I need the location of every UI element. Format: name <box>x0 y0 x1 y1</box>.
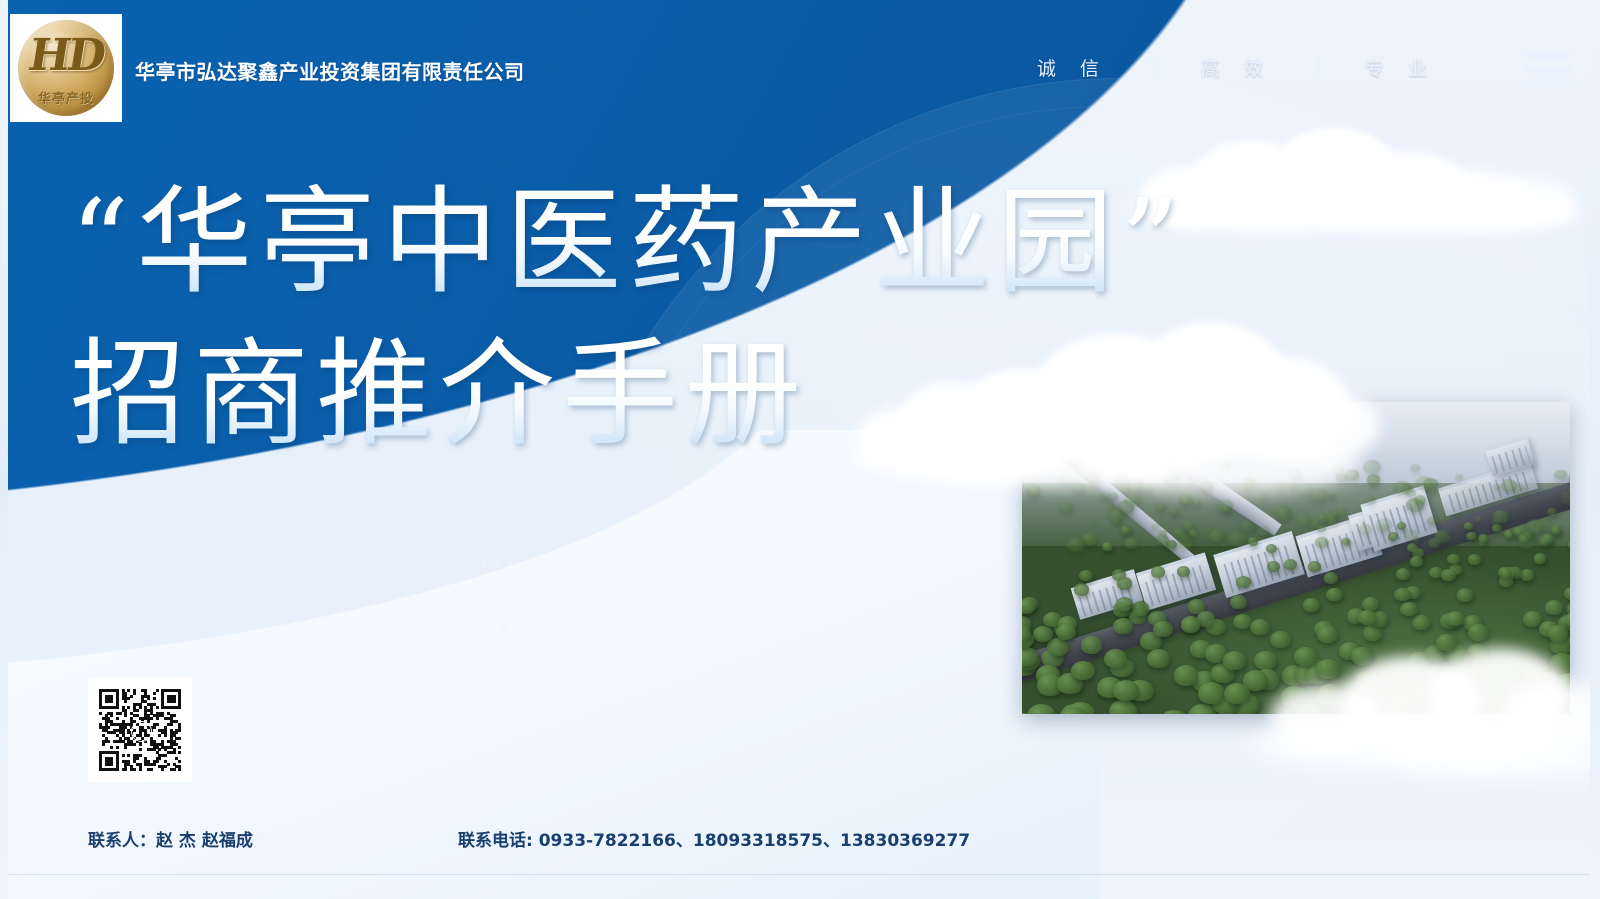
qr-module <box>158 757 161 760</box>
rendering-tree <box>1396 568 1410 580</box>
rendering-tree <box>1317 626 1337 643</box>
rendering-tree <box>1056 624 1076 641</box>
rendering-tree <box>1324 572 1338 584</box>
qr-module <box>116 768 119 771</box>
rendering-tree-distant <box>1275 506 1293 520</box>
rendering-tree <box>1104 649 1127 668</box>
rendering-tree-distant <box>1526 519 1544 533</box>
rendering-tree-distant <box>1026 484 1041 496</box>
rendering-tree-distant <box>1554 470 1566 480</box>
rendering-tree <box>1316 659 1340 679</box>
qr-module <box>127 689 130 692</box>
rendering-tree-distant <box>1108 492 1118 500</box>
qr-module <box>164 734 167 737</box>
qr-code[interactable] <box>88 678 192 782</box>
qr-module <box>167 763 170 766</box>
rendering-tree <box>1545 600 1563 614</box>
rendering-tree <box>1294 647 1317 666</box>
rendering-tree <box>1033 626 1053 643</box>
rendering-tree-distant <box>1455 474 1463 480</box>
qr-module <box>158 734 161 737</box>
rendering-tree-distant <box>1331 464 1344 475</box>
rendering-tree-distant <box>1416 476 1433 489</box>
rendering-tree-distant <box>1560 491 1570 504</box>
contact-person: 联系人：赵 杰 赵福成 <box>88 826 253 851</box>
rendering-tree-distant <box>1296 514 1311 526</box>
header-nav: 诚 信 高 效 专 业 <box>991 54 1482 81</box>
hamburger-bar <box>1524 66 1572 73</box>
rendering-tree-distant <box>1428 538 1441 548</box>
rendering-tree <box>1174 665 1199 685</box>
rendering-tree-distant <box>1363 460 1380 474</box>
rendering-tree <box>1113 618 1133 634</box>
qr-module <box>127 697 130 700</box>
hamburger-bar <box>1524 79 1572 86</box>
rendering-tree <box>1388 532 1398 540</box>
qr-module <box>107 726 110 729</box>
qr-module <box>164 754 167 757</box>
rendering-tree <box>1177 566 1191 577</box>
qr-module <box>158 748 161 751</box>
rendering-tree <box>1284 559 1297 570</box>
rendering-tree-distant <box>1475 516 1482 522</box>
industrial-park-rendering <box>1022 402 1570 714</box>
qr-module <box>153 726 156 729</box>
rendering-tree-distant <box>1183 521 1196 531</box>
qr-module <box>156 706 159 709</box>
rendering-tree <box>1550 653 1570 672</box>
rendering-tree <box>1317 684 1344 706</box>
qr-module <box>156 717 159 720</box>
qr-module <box>110 700 113 703</box>
rendering-tree <box>1230 595 1247 609</box>
rendering-tree <box>1116 597 1133 611</box>
logo-monogram: HD <box>18 30 114 81</box>
rendering-tree-distant <box>1082 532 1098 545</box>
qr-module <box>173 714 176 717</box>
qr-module <box>178 706 181 709</box>
rendering-tree <box>1407 652 1430 671</box>
qr-module <box>124 768 127 771</box>
rendering-tree <box>1447 554 1460 564</box>
rendering-tree-distant <box>1208 529 1224 542</box>
rendering-tree <box>1266 544 1277 553</box>
rendering-tree <box>1394 588 1410 601</box>
rendering-tree-distant <box>1358 524 1372 535</box>
rendering-tree-distant <box>1200 481 1214 492</box>
rendering-tree-distant <box>1259 493 1266 499</box>
qr-module <box>178 737 181 740</box>
rendering-tree <box>1022 599 1035 613</box>
qr-module <box>139 754 142 757</box>
rendering-tree-distant <box>1331 511 1340 518</box>
qr-module <box>130 695 133 698</box>
contact-phone: 联系电话: 0933-7822166、18093318575、138303692… <box>458 826 970 851</box>
qr-module <box>150 768 153 771</box>
logo-caption: 华亭产投 <box>18 88 114 107</box>
qr-module <box>153 692 156 695</box>
rendering-tree-distant <box>1173 527 1184 536</box>
qr-module <box>133 768 136 771</box>
rendering-tree-distant <box>1365 496 1376 505</box>
rendering-tree-distant <box>1569 485 1570 496</box>
rendering-tree <box>1181 617 1200 633</box>
rendering-tree <box>1117 577 1132 589</box>
rendering-tree <box>1198 682 1225 704</box>
qr-module <box>156 723 159 726</box>
rendering-tree-distant <box>1288 469 1302 480</box>
hamburger-menu-icon[interactable] <box>1524 52 1572 86</box>
rendering-tree <box>1081 636 1103 654</box>
qr-module <box>175 731 178 734</box>
footer-divider <box>8 874 1590 875</box>
rendering-tree-distant <box>1513 485 1527 496</box>
qr-module <box>136 757 139 760</box>
rendering-tree <box>1400 602 1418 617</box>
qr-module <box>116 717 119 720</box>
rendering-tree-distant <box>1493 484 1501 490</box>
rendering-tree-distant <box>1427 517 1436 524</box>
rendering-tree-distant <box>1179 494 1192 504</box>
rendering-tree <box>1303 598 1320 612</box>
rendering-tree <box>1440 666 1465 686</box>
rendering-tree-distant <box>1478 540 1486 546</box>
rendering-tree-distant <box>1138 482 1154 494</box>
qr-module <box>178 729 181 732</box>
qr-module <box>99 712 102 715</box>
qr-module <box>124 746 127 749</box>
rendering-tree-distant <box>1243 476 1256 486</box>
qr-module <box>178 768 181 771</box>
rendering-tree-distant <box>1315 537 1329 548</box>
qr-module <box>164 765 167 768</box>
qr-module <box>110 714 113 717</box>
rendering-tree <box>1270 631 1291 648</box>
rendering-tree-distant <box>1328 493 1336 499</box>
qr-module <box>133 692 136 695</box>
qr-module <box>127 706 130 709</box>
qr-module <box>110 746 113 749</box>
qr-module <box>110 763 113 766</box>
qr-center-logo-icon <box>131 721 152 742</box>
qr-module <box>136 709 139 712</box>
rendering-tree-distant <box>1108 508 1124 521</box>
qr-module <box>170 723 173 726</box>
qr-module <box>139 706 142 709</box>
rendering-tree <box>1464 522 1473 529</box>
rendering-tree-distant <box>1168 460 1180 470</box>
poster-root: HD 华亭产投 华亭市弘达聚鑫产业投资集团有限责任公司 诚 信 高 效 专 业 … <box>0 0 1600 899</box>
rendering-tree <box>1362 597 1379 611</box>
rendering-tree <box>1047 638 1069 656</box>
qr-module <box>173 751 176 754</box>
site-header: HD 华亭产投 华亭市弘达聚鑫产业投资集团有限责任公司 诚 信 高 效 专 业 <box>0 0 1600 140</box>
company-logo[interactable]: HD 华亭产投 <box>10 14 122 122</box>
qr-module <box>116 746 119 749</box>
rendering-tree-distant <box>1156 503 1165 510</box>
rendering-tree <box>1308 561 1321 572</box>
qr-module <box>124 700 127 703</box>
hamburger-bar <box>1524 52 1572 59</box>
rendering-tree <box>1468 624 1488 641</box>
rendering-tree <box>1468 554 1481 564</box>
qr-code-matrix <box>99 689 181 771</box>
rendering-tree <box>1446 611 1465 626</box>
qr-module <box>173 700 176 703</box>
qr-module <box>156 689 159 692</box>
rendering-tree <box>1564 587 1570 600</box>
rendering-tree <box>1520 569 1534 581</box>
rendering-tree <box>1548 625 1568 642</box>
rendering-tree <box>1223 651 1246 670</box>
rendering-tree-distant <box>1228 532 1246 546</box>
qr-module <box>124 714 127 717</box>
rendering-tree <box>1351 647 1374 666</box>
rendering-tree <box>1410 556 1423 566</box>
rendering-tree <box>1473 693 1501 714</box>
qr-module <box>139 743 142 746</box>
rendering-tree <box>1147 649 1170 668</box>
rendering-tree <box>1436 634 1457 651</box>
rendering-tree-distant <box>1120 526 1133 536</box>
rendering-tree <box>1326 588 1342 601</box>
nav-item-integrity[interactable]: 诚 信 <box>991 54 1154 81</box>
rendering-tree-distant <box>1404 529 1418 541</box>
qr-module <box>178 751 181 754</box>
rendering-tree-distant <box>1223 462 1231 468</box>
rendering-tree-distant <box>1377 524 1387 532</box>
rendering-tree <box>1132 601 1150 616</box>
nav-item-efficiency[interactable]: 高 效 <box>1155 54 1318 81</box>
qr-module <box>150 717 153 720</box>
qr-module <box>178 760 181 763</box>
nav-item-professional[interactable]: 专 业 <box>1319 54 1482 81</box>
rendering-tree <box>1397 522 1406 529</box>
rendering-tree-distant <box>1257 526 1270 536</box>
rendering-tree <box>1358 610 1377 625</box>
rendering-tree <box>1457 588 1473 601</box>
rendering-tree <box>1022 647 1038 666</box>
qr-module <box>147 697 150 700</box>
rendering-tree-distant <box>1414 495 1426 504</box>
qr-module <box>107 740 110 743</box>
rendering-tree <box>1250 619 1270 635</box>
rendering-tree <box>1551 683 1570 705</box>
rendering-tree <box>1254 651 1277 670</box>
rendering-tree <box>1359 674 1385 695</box>
rendering-tree-distant <box>1341 538 1350 545</box>
rendering-tree <box>1113 680 1139 702</box>
rendering-tree-distant <box>1547 508 1557 516</box>
rendering-tree-distant <box>1192 532 1204 542</box>
rendering-tree-distant <box>1551 525 1561 533</box>
qr-module <box>153 763 156 766</box>
qr-module <box>122 754 125 757</box>
rendering-tree-distant <box>1124 537 1139 549</box>
rendering-tree-distant <box>1072 482 1085 492</box>
qr-module <box>156 760 159 763</box>
qr-module <box>139 748 142 751</box>
rendering-tree <box>1498 567 1512 578</box>
qr-module <box>127 754 130 757</box>
rendering-tree-distant <box>1090 479 1100 487</box>
rendering-tree <box>1466 532 1476 540</box>
qr-module <box>119 712 122 715</box>
rendering-tree-distant <box>1222 506 1230 513</box>
rendering-tree-distant <box>1163 472 1179 485</box>
rendering-tree-distant <box>1059 502 1073 514</box>
rendering-tree-distant <box>1192 499 1201 506</box>
qr-module <box>133 743 136 746</box>
rendering-tree <box>1151 566 1165 577</box>
poster-footer: 联系人：赵 杰 赵福成 联系电话: 0933-7822166、180933185… <box>0 789 1600 899</box>
rendering-tree <box>1074 583 1090 596</box>
rendering-tree-distant <box>1518 535 1536 549</box>
company-name: 华亭市弘达聚鑫产业投资集团有限责任公司 <box>135 56 525 85</box>
rendering-tree <box>1534 553 1546 563</box>
rendering-tree <box>1492 524 1501 532</box>
rendering-tree-distant <box>1089 464 1104 476</box>
qr-module <box>102 743 105 746</box>
rendering-tree <box>1523 668 1548 689</box>
qr-module <box>173 768 176 771</box>
rendering-tree-distant <box>1057 474 1071 485</box>
qr-module <box>153 697 156 700</box>
qr-module <box>178 746 181 749</box>
qr-module <box>139 768 142 771</box>
rendering-tree <box>1224 683 1251 705</box>
rendering-tree-distant <box>1367 474 1380 485</box>
rendering-tree-distant <box>1124 494 1140 507</box>
rendering-tree <box>1441 569 1455 581</box>
qr-module <box>116 706 119 709</box>
qr-module <box>161 768 164 771</box>
company-seal-icon: HD 华亭产投 <box>18 20 114 116</box>
